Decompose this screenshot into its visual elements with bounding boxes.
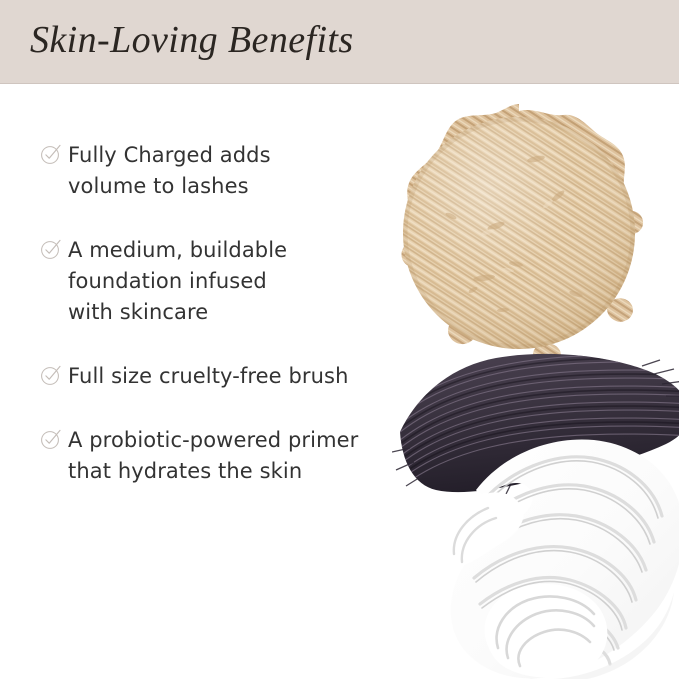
- check-circle-icon: [40, 143, 62, 165]
- benefit-text-1: Fully Charged adds volume to lashes: [68, 140, 271, 202]
- benefits-list: Fully Charged adds volume to lashes A me…: [40, 140, 440, 487]
- benefit-item-2: A medium, buildable foundation infused w…: [40, 235, 440, 328]
- benefit-item-1: Fully Charged adds volume to lashes: [40, 140, 440, 202]
- benefit-item-4: A probiotic-powered primer that hydrates…: [40, 425, 440, 487]
- benefit-text-4: A probiotic-powered primer that hydrates…: [68, 425, 358, 487]
- primer-cream-swatch: [418, 432, 679, 679]
- header-band: Skin-Loving Benefits: [0, 0, 679, 84]
- benefit-item-3: Full size cruelty-free brush: [40, 361, 440, 392]
- mascara-stroke-body: [400, 354, 679, 492]
- check-circle-icon: [40, 238, 62, 260]
- benefit-text-2: A medium, buildable foundation infused w…: [68, 235, 287, 328]
- benefit-text-3: Full size cruelty-free brush: [68, 361, 349, 392]
- check-circle-icon: [40, 364, 62, 386]
- product-benefits-graphic: Skin-Loving Benefits Fully Charged adds …: [0, 0, 679, 679]
- check-circle-icon: [40, 428, 62, 450]
- cream-blob: [451, 439, 679, 678]
- page-title: Skin-Loving Benefits: [30, 16, 354, 64]
